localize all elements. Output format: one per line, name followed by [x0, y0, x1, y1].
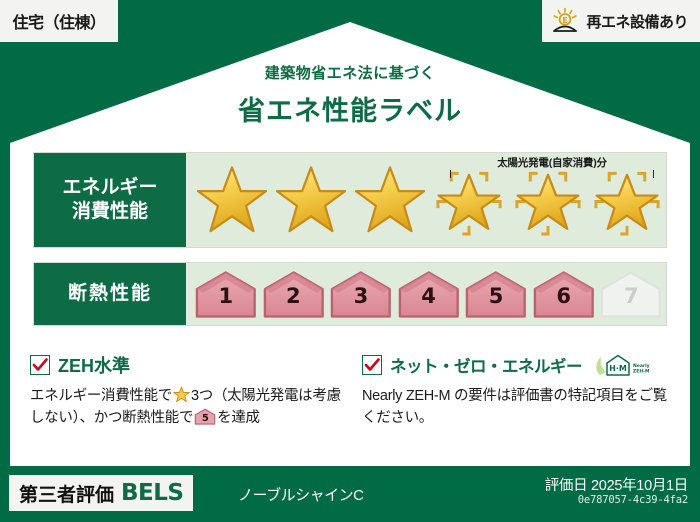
net-zero-energy-heading: ネット・ゼロ・エネルギー H·M Nearly ZEH-M	[362, 352, 672, 378]
insulation-performance-label: 断熱性能	[34, 263, 186, 325]
energy-label-line1: エネルギー	[62, 176, 157, 200]
insulation-performance-body: 1 2 3 4	[186, 263, 666, 325]
insulation-level-scale: 1 2 3 4	[186, 263, 666, 325]
zeh-standard-heading: ZEH水準	[30, 352, 350, 378]
svg-text:Nearly: Nearly	[633, 363, 650, 369]
page-subtitle: 建築物省エネ法に基づく	[0, 62, 700, 83]
gold-star-icon	[274, 163, 348, 237]
check-mark-icon	[364, 357, 380, 373]
evaluation-date-value: 2025年10月1日	[591, 478, 688, 494]
insulation-level-number: 5	[463, 284, 529, 308]
insulation-level-4: 4	[396, 269, 462, 319]
zeh-standard-title: ZEH水準	[58, 352, 130, 378]
check-mark-icon	[32, 357, 48, 373]
star-3	[350, 154, 429, 246]
net-zero-energy-block: ネット・ゼロ・エネルギー H·M Nearly ZEH-M Nearly ZEH…	[362, 352, 672, 430]
gold-star-icon	[195, 163, 269, 237]
insulation-level-number: 1	[193, 284, 259, 308]
evaluation-date-label: 評価日	[545, 478, 588, 494]
insulation-level-2: 2	[261, 269, 327, 319]
insulation-level-number: 7	[598, 284, 664, 308]
building-type-label: 住宅（住棟）	[12, 9, 105, 33]
energy-performance-label: エネルギー 消費性能	[34, 153, 186, 247]
gold-star-icon	[353, 163, 427, 237]
insulation-level-6: 6	[531, 269, 597, 319]
bels-certification-tag: 第三者評価 BELS	[9, 475, 193, 511]
evaluation-id: 0e787057-4c39-4fa2	[578, 494, 688, 506]
insulation-level-number: 4	[396, 284, 462, 308]
evaluation-date: 評価日 2025年10月1日	[545, 474, 688, 495]
renewable-badge-label: 再エネ設備あり	[586, 11, 688, 32]
solar-range-label: 太陽光発電(自家消費)分	[444, 155, 660, 170]
star-1	[192, 154, 271, 246]
energy-performance-body: 太陽光発電(自家消費)分	[186, 153, 666, 247]
zeh-desc-part1: エネルギー消費性能で	[30, 388, 172, 404]
zeh-standard-description: エネルギー消費性能で3つ（太陽光発電は考慮しない）、かつ断熱性能で5を達成	[30, 385, 350, 430]
energy-performance-row: エネルギー 消費性能	[33, 152, 667, 248]
star-2	[271, 154, 350, 246]
checkbox-checked-icon	[30, 355, 50, 375]
bels-jp-label: 第三者評価	[19, 480, 114, 507]
insulation-level-number: 6	[531, 284, 597, 308]
nearly-zeh-m-logo: H·M Nearly ZEH-M	[594, 352, 650, 378]
net-zero-energy-title: ネット・ゼロ・エネルギー	[390, 353, 582, 377]
insulation-level-number: 3	[328, 284, 394, 308]
energy-label-line2: 消費性能	[72, 200, 148, 224]
insulation-level-3: 3	[328, 269, 394, 319]
zeh-desc-part3: を達成	[217, 410, 260, 426]
footer: 第三者評価 BELS ノーブルシャインC 評価日 2025年10月1日 0e78…	[0, 466, 700, 522]
zeh-standard-block: ZEH水準 エネルギー消費性能で3つ（太陽光発電は考慮しない）、かつ断熱性能で5…	[30, 352, 350, 430]
svg-text:ZEH-M: ZEH-M	[633, 369, 650, 375]
title-block: 建築物省エネ法に基づく 省エネ性能ラベル	[0, 62, 700, 128]
insulation-level-number: 2	[261, 284, 327, 308]
svg-text:E: E	[563, 16, 568, 25]
inline-house-value: 5	[194, 411, 216, 427]
renewable-energy-badge: E 再エネ設備あり	[542, 0, 700, 42]
svg-text:H·M: H·M	[609, 364, 627, 373]
building-name: ノーブルシャインC	[238, 484, 363, 505]
gold-star-icon	[173, 386, 190, 403]
insulation-level-5: 5	[463, 269, 529, 319]
bels-en-label: BELS	[121, 480, 183, 506]
checkbox-checked-icon	[362, 355, 382, 375]
net-zero-energy-description: Nearly ZEH-M の要件は評価書の特記項目をご覧ください。	[362, 385, 672, 430]
sun-energy-icon: E	[550, 7, 580, 35]
insulation-level-7: 7	[598, 269, 664, 319]
insulation-level-inline-icon: 5	[194, 408, 216, 425]
insulation-level-1: 1	[193, 269, 259, 319]
building-type-tag: 住宅（住棟）	[0, 0, 118, 42]
insulation-performance-row: 断熱性能 1 2	[33, 262, 667, 326]
page-title: 省エネ性能ラベル	[0, 89, 700, 128]
